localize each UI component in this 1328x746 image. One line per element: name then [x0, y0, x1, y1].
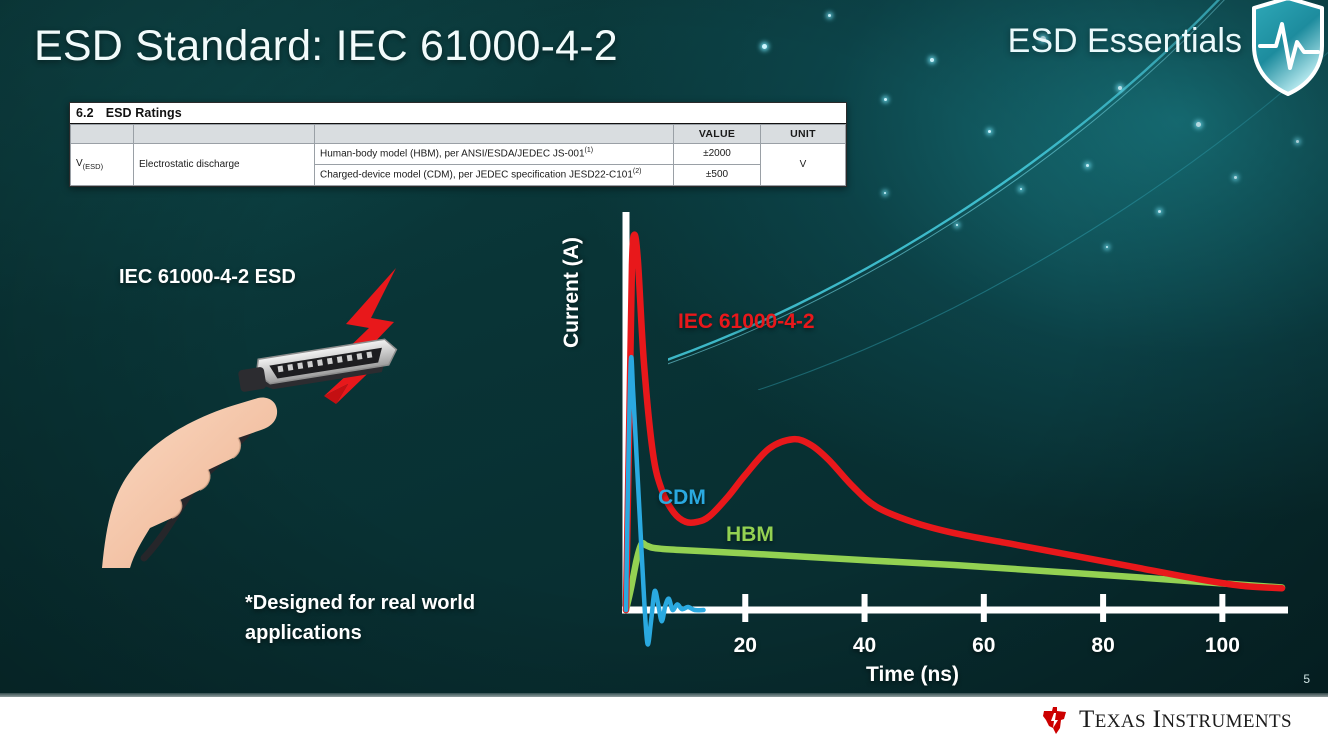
cell-symbol: V(ESD) [71, 144, 134, 186]
esd-waveform-chart: Current (A) Time (ns) IEC 61000-4-2 CDM … [566, 198, 1296, 697]
column-header-unit: UNIT [761, 125, 846, 144]
symbol-subscript: (ESD) [83, 162, 103, 171]
series-annotation-iec: IEC 61000-4-2 [678, 310, 815, 334]
table-section-heading: 6.2ESD Ratings [70, 103, 846, 124]
column-header-value: VALUE [674, 125, 761, 144]
series-annotation-hbm: HBM [726, 523, 774, 547]
cell-condition-cdm: Charged-device model (CDM), per JEDEC sp… [315, 164, 674, 185]
hand-shape [102, 398, 277, 568]
series-annotation-cdm: CDM [658, 486, 706, 510]
cell-value-hbm: ±2000 [674, 144, 761, 165]
chart-plot-area [566, 198, 1296, 668]
footnote-text: *Designed for real world applications [245, 588, 545, 648]
symbol-text: V [76, 158, 83, 169]
brand-label: ESD Essentials [1008, 22, 1242, 61]
section-title: ESD Ratings [106, 106, 182, 120]
chart-x-tick-label: 80 [1091, 634, 1114, 658]
page-title: ESD Standard: IEC 61000-4-2 [34, 22, 618, 71]
table-header-row: VALUE UNIT [71, 125, 846, 144]
cell-condition-hbm: Human-body model (HBM), per ANSI/ESDA/JE… [315, 144, 674, 165]
chart-x-tick-label: 40 [853, 634, 876, 658]
slide-background: ESD Standard: IEC 61000-4-2 ESD Essentia… [0, 0, 1328, 697]
page-number: 5 [1303, 672, 1310, 686]
chart-x-tick-label: 100 [1205, 634, 1240, 658]
section-number: 6.2 [76, 106, 94, 120]
slide-footer: TEXAS INSTRUMENTS [0, 697, 1328, 746]
ti-wordmark: TEXAS INSTRUMENTS [1079, 706, 1292, 734]
cell-value-cdm: ±500 [674, 164, 761, 185]
chart-x-tick-label: 60 [972, 634, 995, 658]
hdmi-connector-icon [236, 338, 399, 395]
ti-texas-logo-icon [1040, 704, 1070, 736]
cell-unit: V [761, 144, 846, 186]
slide: ESD Standard: IEC 61000-4-2 ESD Essentia… [0, 0, 1328, 746]
shield-pulse-icon [1248, 0, 1328, 98]
chart-x-tick-label: 20 [734, 634, 757, 658]
lightning-bolt-icon [324, 268, 396, 404]
cell-parameter: Electrostatic discharge [134, 144, 315, 186]
texas-instruments-logo: TEXAS INSTRUMENTS [1040, 704, 1292, 736]
esd-ratings-table: 6.2ESD Ratings VALUE UNIT V(ESD) Electr [69, 102, 847, 187]
table-row: V(ESD) Electrostatic discharge Human-bod… [71, 144, 846, 165]
hand-connector-illustration [88, 258, 428, 578]
